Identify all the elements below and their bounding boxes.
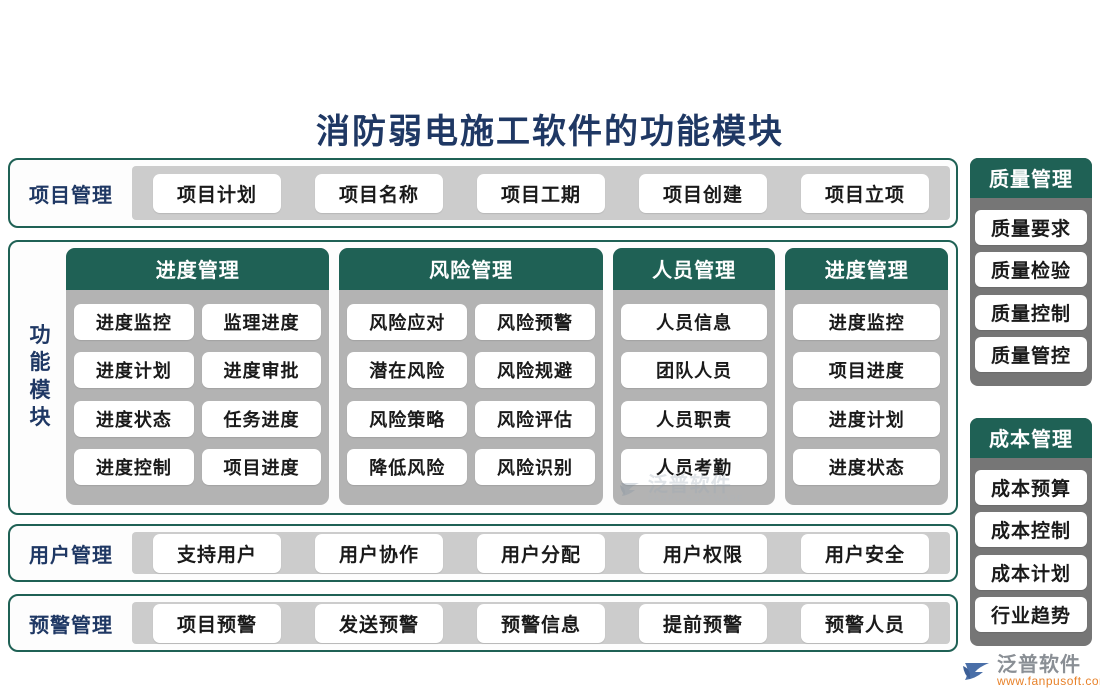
project-item-3[interactable]: 项目创建 <box>639 174 767 213</box>
watermark-main-en: www.fanpusoft.com <box>997 675 1100 687</box>
sidebar-group-quality-header: 质量管理 <box>970 158 1092 198</box>
function-cell-0-0-1[interactable]: 监理进度 <box>202 304 322 340</box>
project-management-items: 项目计划 项目名称 项目工期 项目创建 项目立项 <box>132 166 950 220</box>
warning-management-label: 预警管理 <box>10 596 132 650</box>
project-management-row: 项目管理 项目计划 项目名称 项目工期 项目创建 项目立项 <box>8 158 958 228</box>
function-module-label-char-0: 功 <box>30 322 51 349</box>
sidebar-group-cost-items: 成本预算 成本控制 成本计划 行业趋势 <box>970 458 1092 646</box>
watermark-inner-text: 泛普软件 FANPU SOFTWARE <box>648 475 744 503</box>
function-column-body-2: 人员信息 团队人员 人员职责 人员考勤 <box>613 290 776 505</box>
function-column-risk: 风险管理 风险应对 风险预警 潜在风险 风险规避 风险策略 风险评估 <box>339 248 602 505</box>
function-column-header-1: 风险管理 <box>339 248 602 290</box>
warning-item-3[interactable]: 提前预警 <box>639 604 767 643</box>
user-item-0[interactable]: 支持用户 <box>153 534 281 573</box>
warning-item-0[interactable]: 项目预警 <box>153 604 281 643</box>
function-column-schedule-2: 进度管理 进度监控 项目进度 进度计划 进度状态 <box>785 248 948 505</box>
user-item-3[interactable]: 用户权限 <box>639 534 767 573</box>
function-cell-3-3-0[interactable]: 进度状态 <box>793 449 940 485</box>
function-cell-0-1-0[interactable]: 进度计划 <box>74 352 194 388</box>
user-item-2[interactable]: 用户分配 <box>477 534 605 573</box>
warning-management-row: 预警管理 项目预警 发送预警 预警信息 提前预警 预警人员 <box>8 594 958 652</box>
sidebar-group-quality: 质量管理 质量要求 质量检验 质量控制 质量管控 <box>970 158 1092 386</box>
sidebar-item-quality-2[interactable]: 质量控制 <box>975 295 1087 330</box>
function-cell-1-1-1[interactable]: 风险规避 <box>475 352 595 388</box>
user-management-label: 用户管理 <box>10 526 132 580</box>
watermark-main: 泛普软件 www.fanpusoft.com <box>962 655 1100 687</box>
table-row: 进度监控 <box>793 304 940 340</box>
sidebar-item-quality-0[interactable]: 质量要求 <box>975 210 1087 245</box>
page-title: 消防弱电施工软件的功能模块 <box>0 104 1100 153</box>
watermark-main-text: 泛普软件 www.fanpusoft.com <box>997 655 1100 687</box>
function-cell-1-2-1[interactable]: 风险评估 <box>475 401 595 437</box>
function-cell-1-2-0[interactable]: 风险策略 <box>347 401 467 437</box>
sidebar-item-cost-1[interactable]: 成本控制 <box>975 512 1087 547</box>
function-cell-2-2-0[interactable]: 人员职责 <box>621 401 768 437</box>
project-management-label: 项目管理 <box>10 160 132 226</box>
warning-item-1[interactable]: 发送预警 <box>315 604 443 643</box>
diagram-canvas: 消防弱电施工软件的功能模块 项目管理 项目计划 项目名称 项目工期 项目创建 项… <box>0 0 1100 700</box>
table-row: 人员信息 <box>621 304 768 340</box>
function-column-personnel: 人员管理 人员信息 团队人员 人员职责 人员考勤 <box>613 248 776 505</box>
table-row: 进度计划 <box>793 401 940 437</box>
watermark-inner-en: FANPU SOFTWARE <box>648 495 744 503</box>
sidebar-item-cost-3[interactable]: 行业趋势 <box>975 597 1087 632</box>
warning-item-2[interactable]: 预警信息 <box>477 604 605 643</box>
function-column-body-1: 风险应对 风险预警 潜在风险 风险规避 风险策略 风险评估 降低风险 <box>339 290 602 505</box>
table-row: 风险应对 风险预警 <box>347 304 594 340</box>
function-module-label-char-3: 块 <box>30 404 51 431</box>
user-item-1[interactable]: 用户协作 <box>315 534 443 573</box>
warning-management-items: 项目预警 发送预警 预警信息 提前预警 预警人员 <box>132 602 950 644</box>
table-row: 进度监控 监理进度 <box>74 304 321 340</box>
user-management-items: 支持用户 用户协作 用户分配 用户权限 用户安全 <box>132 532 950 574</box>
function-cell-1-3-0[interactable]: 降低风险 <box>347 449 467 485</box>
function-cell-0-3-1[interactable]: 项目进度 <box>202 449 322 485</box>
function-module-label-char-1: 能 <box>30 349 51 376</box>
sidebar-item-cost-0[interactable]: 成本预算 <box>975 470 1087 505</box>
warning-item-4[interactable]: 预警人员 <box>801 604 929 643</box>
table-row: 人员职责 <box>621 401 768 437</box>
fanpu-logo-icon <box>619 479 643 499</box>
function-cell-0-2-1[interactable]: 任务进度 <box>202 401 322 437</box>
function-cell-1-3-1[interactable]: 风险识别 <box>475 449 595 485</box>
function-module-label-char-2: 模 <box>30 377 51 404</box>
function-cell-1-0-0[interactable]: 风险应对 <box>347 304 467 340</box>
function-cell-3-0-0[interactable]: 进度监控 <box>793 304 940 340</box>
table-row: 进度计划 进度审批 <box>74 352 321 388</box>
user-item-4[interactable]: 用户安全 <box>801 534 929 573</box>
function-cell-1-0-1[interactable]: 风险预警 <box>475 304 595 340</box>
project-item-2[interactable]: 项目工期 <box>477 174 605 213</box>
function-column-body-3: 进度监控 项目进度 进度计划 进度状态 <box>785 290 948 505</box>
sidebar-group-quality-items: 质量要求 质量检验 质量控制 质量管控 <box>970 198 1092 386</box>
table-row: 风险策略 风险评估 <box>347 401 594 437</box>
sidebar-item-quality-1[interactable]: 质量检验 <box>975 252 1087 287</box>
sidebar-group-cost: 成本管理 成本预算 成本控制 成本计划 行业趋势 <box>970 418 1092 646</box>
function-cell-3-2-0[interactable]: 进度计划 <box>793 401 940 437</box>
project-item-4[interactable]: 项目立项 <box>801 174 929 213</box>
user-management-row: 用户管理 支持用户 用户协作 用户分配 用户权限 用户安全 <box>8 524 958 582</box>
function-cell-3-1-0[interactable]: 项目进度 <box>793 352 940 388</box>
watermark-main-cn: 泛普软件 <box>997 655 1100 675</box>
sidebar-item-cost-2[interactable]: 成本计划 <box>975 555 1087 590</box>
function-cell-2-1-0[interactable]: 团队人员 <box>621 352 768 388</box>
function-cell-0-3-0[interactable]: 进度控制 <box>74 449 194 485</box>
table-row: 进度控制 项目进度 <box>74 449 321 485</box>
function-cell-0-1-1[interactable]: 进度审批 <box>202 352 322 388</box>
table-row: 潜在风险 风险规避 <box>347 352 594 388</box>
function-column-header-2: 人员管理 <box>613 248 776 290</box>
function-cell-1-1-0[interactable]: 潜在风险 <box>347 352 467 388</box>
function-cell-0-0-0[interactable]: 进度监控 <box>74 304 194 340</box>
project-item-0[interactable]: 项目计划 <box>153 174 281 213</box>
table-row: 进度状态 任务进度 <box>74 401 321 437</box>
sidebar-group-cost-header: 成本管理 <box>970 418 1092 458</box>
function-module-panel: 功 能 模 块 进度管理 进度监控 监理进度 进度计划 <box>8 240 958 515</box>
table-row: 进度状态 <box>793 449 940 485</box>
function-cell-2-0-0[interactable]: 人员信息 <box>621 304 768 340</box>
function-column-header-0: 进度管理 <box>66 248 329 290</box>
function-module-label: 功 能 模 块 <box>14 248 66 505</box>
watermark-inner: 泛普软件 FANPU SOFTWARE <box>619 475 744 503</box>
table-row: 项目进度 <box>793 352 940 388</box>
function-column-schedule-1: 进度管理 进度监控 监理进度 进度计划 进度审批 进度状态 任务进度 <box>66 248 329 505</box>
table-row: 团队人员 <box>621 352 768 388</box>
fanpu-logo-icon <box>962 658 992 684</box>
function-cell-0-2-0[interactable]: 进度状态 <box>74 401 194 437</box>
watermark-inner-cn: 泛普软件 <box>648 475 744 495</box>
project-item-1[interactable]: 项目名称 <box>315 174 443 213</box>
function-column-body-0: 进度监控 监理进度 进度计划 进度审批 进度状态 任务进度 进度控制 <box>66 290 329 505</box>
sidebar-item-quality-3[interactable]: 质量管控 <box>975 337 1087 372</box>
function-column-header-3: 进度管理 <box>785 248 948 290</box>
table-row: 降低风险 风险识别 <box>347 449 594 485</box>
